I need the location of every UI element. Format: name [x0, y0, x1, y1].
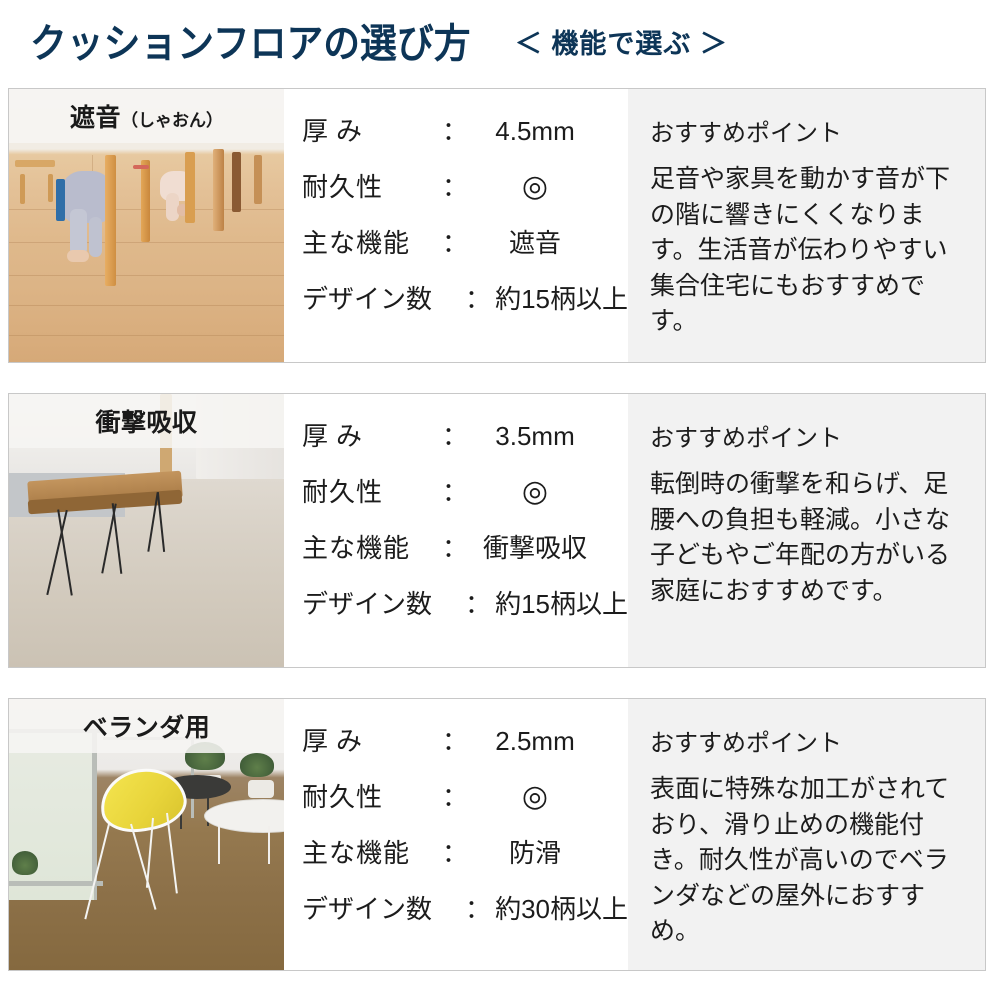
- recommendation-panel: おすすめポイント 足音や家具を動かす音が下の階に響きにくくなります。生活音が伝わ…: [628, 89, 985, 362]
- recommendation-heading: おすすめポイント: [650, 418, 963, 453]
- spec-label-durability: 耐久性: [302, 472, 440, 509]
- page-title: クッションフロアの選び方 ＜ 機能で選ぶ ＞: [0, 0, 1000, 88]
- spec-value-design-count: 約30柄以上: [491, 889, 628, 926]
- recommendation-heading: おすすめポイント: [650, 113, 963, 148]
- spec-label-design-count: デザイン数: [302, 584, 465, 621]
- recommendation-text: 転倒時の衝撃を和らげ、足腰への負担も軽減。小さな子どもやご年配の方がいる家庭にお…: [650, 467, 963, 609]
- feature-card-veranda: ベランダ用 厚み ： 2.5mm 耐久性 ： ◎ 主な機能 ： 防滑 デザイン数…: [8, 698, 986, 971]
- spec-value-main-function: 遮音: [470, 223, 628, 260]
- spec-value-thickness: 4.5mm: [470, 116, 628, 147]
- page-title-subtitle: ＜ 機能で選ぶ ＞: [515, 31, 728, 58]
- feature-card-shock-absorption: 衝撃吸収 厚み ： 3.5mm 耐久性 ： ◎ 主な機能 ： 衝撃吸収 デザイン…: [8, 393, 986, 668]
- card-label: 衝撃吸収: [95, 403, 197, 439]
- recommendation-heading: おすすめポイント: [650, 723, 963, 758]
- spec-colon: ：: [440, 167, 470, 204]
- card-label-band: ベランダ用: [9, 699, 284, 753]
- spec-colon: ：: [465, 584, 491, 621]
- spec-row-thickness: 厚み ： 3.5mm: [302, 416, 628, 472]
- spec-row-main-function: 主な機能 ： 防滑: [302, 833, 628, 889]
- spec-label-main-function: 主な機能: [302, 223, 440, 260]
- spec-table: 厚み ： 4.5mm 耐久性 ： ◎ 主な機能 ： 遮音 デザイン数 ： 約15…: [284, 89, 628, 362]
- spec-value-durability: ◎: [470, 477, 628, 507]
- spec-colon: ：: [465, 889, 491, 926]
- spec-value-thickness: 3.5mm: [470, 421, 628, 452]
- spec-row-thickness: 厚み ： 2.5mm: [302, 721, 628, 777]
- card-photo-children-on-wood-floor: 遮音（しゃおん）: [9, 89, 284, 362]
- card-photo-balcony-with-chair: ベランダ用: [9, 699, 284, 970]
- spec-row-durability: 耐久性 ： ◎: [302, 777, 628, 833]
- spec-colon: ：: [440, 721, 470, 758]
- spec-colon: ：: [440, 472, 470, 509]
- recommendation-panel: おすすめポイント 転倒時の衝撃を和らげ、足腰への負担も軽減。小さな子どもやご年配…: [628, 394, 985, 667]
- card-label-band: 遮音（しゃおん）: [9, 89, 284, 143]
- spec-label-durability: 耐久性: [302, 167, 440, 204]
- recommendation-text: 表面に特殊な加工がされており、滑り止めの機能付き。耐久性が高いのでベランダなどの…: [650, 772, 963, 950]
- recommendation-text: 足音や家具を動かす音が下の階に響きにくくなります。生活音が伝わりやすい集合住宅に…: [650, 162, 963, 340]
- spec-label-thickness: 厚み: [302, 111, 440, 148]
- spec-label-design-count: デザイン数: [302, 279, 465, 316]
- spec-colon: ：: [440, 111, 470, 148]
- spec-row-durability: 耐久性 ： ◎: [302, 472, 628, 528]
- spec-value-design-count: 約15柄以上: [491, 279, 628, 316]
- spec-table: 厚み ： 2.5mm 耐久性 ： ◎ 主な機能 ： 防滑 デザイン数 ： 約30…: [284, 699, 628, 970]
- recommendation-panel: おすすめポイント 表面に特殊な加工がされており、滑り止めの機能付き。耐久性が高い…: [628, 699, 985, 970]
- spec-label-main-function: 主な機能: [302, 833, 440, 870]
- spec-row-design-count: デザイン数 ： 約15柄以上: [302, 279, 628, 335]
- spec-value-durability: ◎: [470, 172, 628, 202]
- spec-label-durability: 耐久性: [302, 777, 440, 814]
- spec-label-thickness: 厚み: [302, 416, 440, 453]
- spec-label-thickness: 厚み: [302, 721, 440, 758]
- spec-value-main-function: 衝撃吸収: [470, 528, 628, 565]
- spec-value-thickness: 2.5mm: [470, 726, 628, 757]
- spec-colon: ：: [465, 279, 491, 316]
- spec-row-design-count: デザイン数 ： 約15柄以上: [302, 584, 628, 640]
- card-photo-bench-on-stone-floor: 衝撃吸収: [9, 394, 284, 667]
- spec-colon: ：: [440, 416, 470, 453]
- spec-value-main-function: 防滑: [470, 833, 628, 870]
- spec-colon: ：: [440, 777, 470, 814]
- spec-colon: ：: [440, 223, 470, 260]
- spec-row-thickness: 厚み ： 4.5mm: [302, 111, 628, 167]
- spec-colon: ：: [440, 833, 470, 870]
- infographic-page: クッションフロアの選び方 ＜ 機能で選ぶ ＞: [0, 0, 1000, 1000]
- spec-row-main-function: 主な機能 ： 遮音: [302, 223, 628, 279]
- spec-row-main-function: 主な機能 ： 衝撃吸収: [302, 528, 628, 584]
- spec-label-main-function: 主な機能: [302, 528, 440, 565]
- card-label: 遮音（しゃおん）: [70, 98, 223, 134]
- spec-row-design-count: デザイン数 ： 約30柄以上: [302, 889, 628, 945]
- card-label: ベランダ用: [83, 708, 211, 744]
- card-label-band: 衝撃吸収: [9, 394, 284, 448]
- spec-label-design-count: デザイン数: [302, 889, 465, 926]
- feature-card-shaon: 遮音（しゃおん） 厚み ： 4.5mm 耐久性 ： ◎ 主な機能 ： 遮音 デザ…: [8, 88, 986, 363]
- spec-colon: ：: [440, 528, 470, 565]
- spec-table: 厚み ： 3.5mm 耐久性 ： ◎ 主な機能 ： 衝撃吸収 デザイン数 ： 約…: [284, 394, 628, 667]
- card-label-ruby: （しゃおん）: [121, 111, 223, 130]
- page-title-main: クッションフロアの選び方: [30, 24, 471, 64]
- spec-value-durability: ◎: [470, 782, 628, 812]
- spec-value-design-count: 約15柄以上: [491, 584, 628, 621]
- spec-row-durability: 耐久性 ： ◎: [302, 167, 628, 223]
